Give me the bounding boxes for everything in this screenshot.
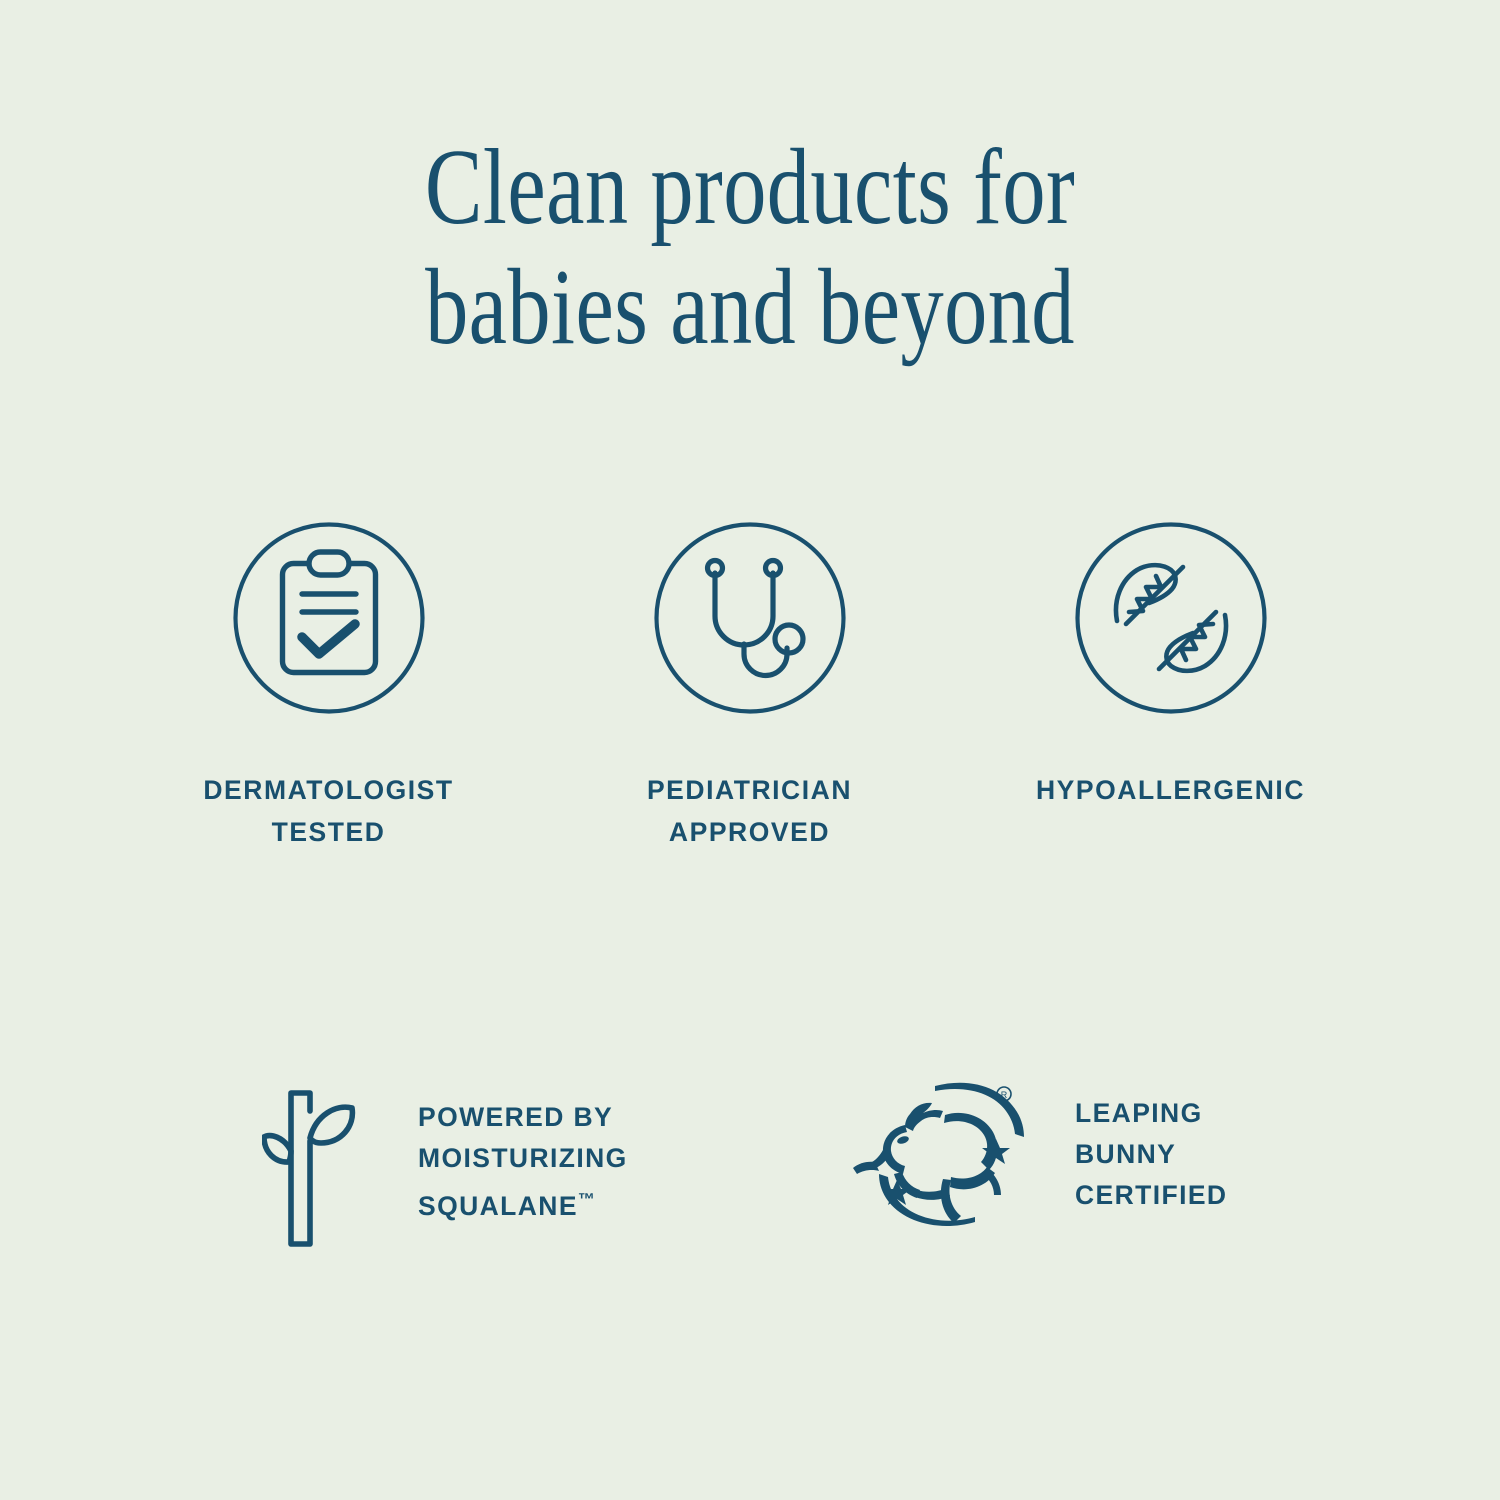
headline-line-1: Clean products for	[150, 128, 1350, 248]
claim-text: LEAPING BUNNY CERTIFIED	[1075, 1093, 1227, 1216]
claim-line-3: CERTIFIED	[1075, 1175, 1227, 1216]
sugarcane-stalk-icon	[262, 1081, 357, 1256]
badge-hypoallergenic: HYPOALLERGENIC	[960, 520, 1381, 811]
svg-text:R: R	[1001, 1090, 1008, 1100]
claim-line-1: LEAPING	[1075, 1093, 1227, 1134]
badge-label-line-2: APPROVED	[669, 817, 830, 847]
claim-line-3-text: SQUALANE	[418, 1191, 578, 1221]
claim-line-3: SQUALANE™	[418, 1179, 628, 1227]
badge-label-line-1: HYPOALLERGENIC	[1036, 775, 1305, 805]
badge-label-line-1: DERMATOLOGIST	[203, 775, 453, 805]
trademark-symbol: ™	[578, 1190, 595, 1209]
badge-label: PEDIATRICIAN APPROVED	[647, 769, 852, 853]
claim-line-2: MOISTURIZING	[418, 1138, 628, 1179]
marketing-banner: Clean products for babies and beyond DER…	[0, 0, 1500, 1500]
claim-line-2: BUNNY	[1075, 1134, 1227, 1175]
claim-squalane: POWERED BY MOISTURIZING SQUALANE™	[262, 1075, 847, 1256]
claims-row: POWERED BY MOISTURIZING SQUALANE™	[262, 1075, 1272, 1256]
clipboard-check-icon	[231, 520, 427, 716]
badge-label-line-2: TESTED	[272, 817, 386, 847]
stethoscope-icon	[652, 520, 848, 716]
claim-text: POWERED BY MOISTURIZING SQUALANE™	[418, 1097, 628, 1227]
badge-pediatrician-approved: PEDIATRICIAN APPROVED	[539, 520, 960, 853]
claim-line-1: POWERED BY	[418, 1097, 628, 1138]
leaping-bunny-logo: R	[847, 1077, 1047, 1232]
badge-label: DERMATOLOGIST TESTED	[203, 769, 453, 853]
badge-label: HYPOALLERGENIC	[1036, 769, 1305, 811]
headline-line-2: babies and beyond	[150, 248, 1350, 368]
page-title: Clean products for babies and beyond	[150, 128, 1350, 368]
badge-label-line-1: PEDIATRICIAN	[647, 775, 852, 805]
claim-leaping-bunny: R LEAPING BUNNY CERTIFIED	[847, 1075, 1272, 1232]
badge-row: DERMATOLOGIST TESTED PEDIATRICIAN APPROV…	[118, 520, 1383, 853]
feathers-icon	[1073, 520, 1269, 716]
badge-dermatologist-tested: DERMATOLOGIST TESTED	[118, 520, 539, 853]
